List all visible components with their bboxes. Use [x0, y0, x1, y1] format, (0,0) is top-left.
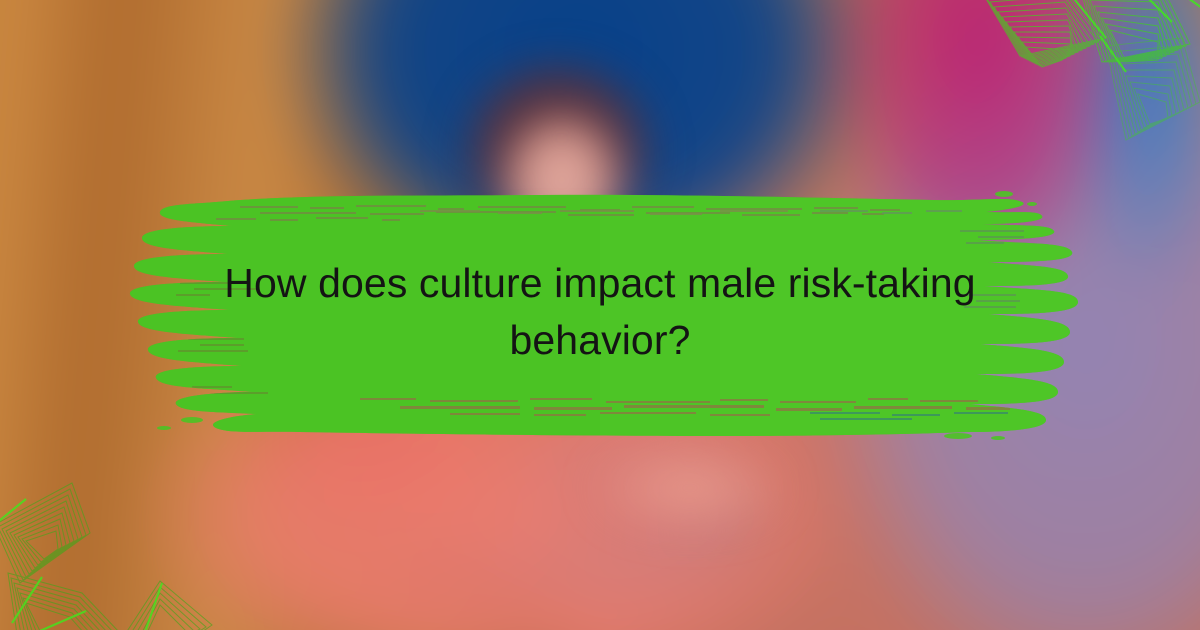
page-title: How does culture impact male risk-taking… [150, 255, 1050, 369]
social-share-card: How does culture impact male risk-taking… [0, 0, 1200, 630]
background-person-hands [560, 430, 820, 550]
